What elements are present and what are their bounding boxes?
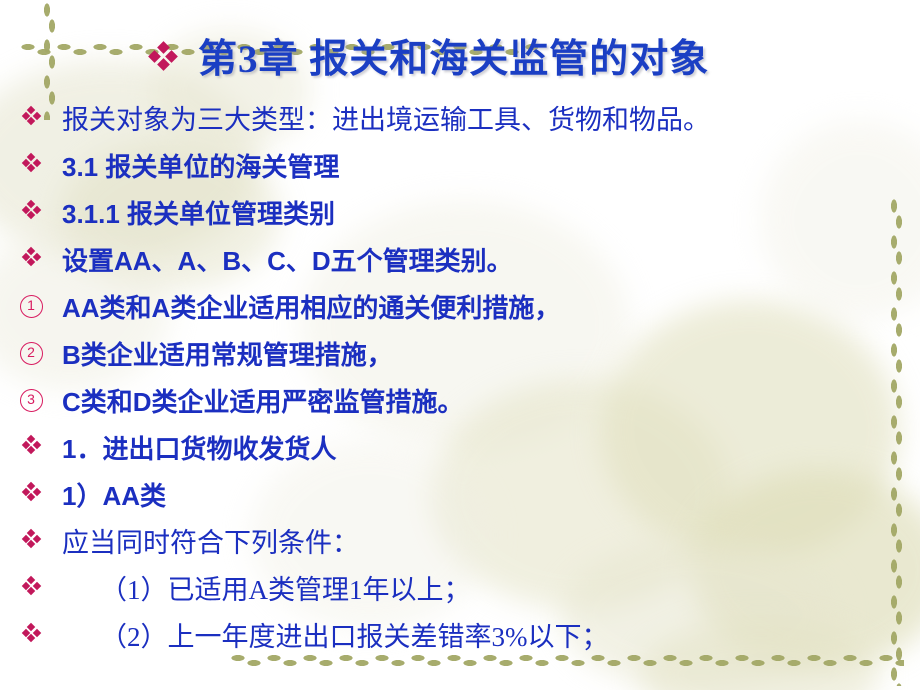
diamond-bullet-glyph-icon (23, 107, 40, 124)
bullet-line-text: AA类和A类企业适用相应的通关便利措施， (62, 288, 560, 328)
bullet-line: （2）上一年度进出口报关差错率3%以下； (0, 617, 920, 664)
circled-number-icon: 2 (20, 342, 43, 365)
bullet-line: 3.1 报关单位的海关管理 (0, 147, 920, 194)
bullet-line-text: 1．进出口货物收发货人 (62, 429, 336, 469)
title-diamond-bullet-icon (150, 43, 176, 69)
bullet-line: 设置AA、A、B、C、D五个管理类别。 (0, 241, 920, 288)
bullet-line-text: 设置AA、A、B、C、D五个管理类别。 (62, 241, 513, 281)
circled-number-icon: 3 (20, 389, 43, 412)
diamond-bullet-icon (0, 476, 62, 500)
bullet-line: 2B类企业适用常规管理措施， (0, 335, 920, 382)
slide-canvas: 第3章 报关和海关监管的对象 报关对象为三大类型：进出境运输工具、货物和物品。3… (0, 0, 920, 690)
diamond-bullet-glyph-icon (23, 624, 40, 641)
diamond-bullet-icon (0, 241, 62, 265)
bullet-line-text: （1）已适用A类管理1年以上； (62, 570, 471, 610)
bullet-line-text: 3.1.1 报关单位管理类别 (62, 194, 335, 234)
circled-number-icon: 1 (20, 295, 43, 318)
bullet-line: 应当同时符合下列条件： (0, 523, 920, 570)
bullet-line: 1．进出口货物收发货人 (0, 429, 920, 476)
diamond-bullet-glyph-icon (23, 530, 40, 547)
diamond-bullet-glyph-icon (23, 577, 40, 594)
bullet-line: 3.1.1 报关单位管理类别 (0, 194, 920, 241)
diamond-bullet-icon (0, 429, 62, 453)
slide-body: 报关对象为三大类型：进出境运输工具、货物和物品。3.1 报关单位的海关管理3.1… (0, 100, 920, 664)
bullet-line-text: C类和D类企业适用严密监管措施。 (62, 382, 464, 422)
diamond-bullet-glyph-icon (23, 248, 40, 265)
diamond-bullet-glyph-icon (23, 483, 40, 500)
slide-title-row: 第3章 报关和海关监管的对象 (150, 28, 709, 84)
bullet-line: 报关对象为三大类型：进出境运输工具、货物和物品。 (0, 100, 920, 147)
bullet-line-text: B类企业适用常规管理措施， (62, 335, 393, 375)
bullet-line-text: 1）AA类 (62, 476, 166, 516)
diamond-bullet-icon (0, 617, 62, 641)
list-number-marker: 1 (0, 288, 62, 318)
diamond-bullet-glyph-icon (23, 154, 40, 171)
bullet-line-text: 报关对象为三大类型：进出境运输工具、货物和物品。 (62, 100, 710, 140)
diamond-bullet-icon (0, 523, 62, 547)
page-title: 第3章 报关和海关监管的对象 (198, 28, 709, 84)
diamond-bullet-glyph-icon (23, 436, 40, 453)
bullet-line-text: 3.1 报关单位的海关管理 (62, 147, 339, 187)
diamond-bullet-icon (0, 570, 62, 594)
bullet-line-text: 应当同时符合下列条件： (62, 523, 359, 563)
bullet-line: 3C类和D类企业适用严密监管措施。 (0, 382, 920, 429)
diamond-bullet-glyph-icon (23, 201, 40, 218)
bullet-line: 1AA类和A类企业适用相应的通关便利措施， (0, 288, 920, 335)
bullet-line: 1）AA类 (0, 476, 920, 523)
diamond-bullet-icon (0, 194, 62, 218)
list-number-marker: 3 (0, 382, 62, 412)
bullet-line: （1）已适用A类管理1年以上； (0, 570, 920, 617)
diamond-bullet-icon (0, 100, 62, 124)
list-number-marker: 2 (0, 335, 62, 365)
bullet-line-text: （2）上一年度进出口报关差错率3%以下； (62, 617, 609, 657)
diamond-bullet-icon (0, 147, 62, 171)
